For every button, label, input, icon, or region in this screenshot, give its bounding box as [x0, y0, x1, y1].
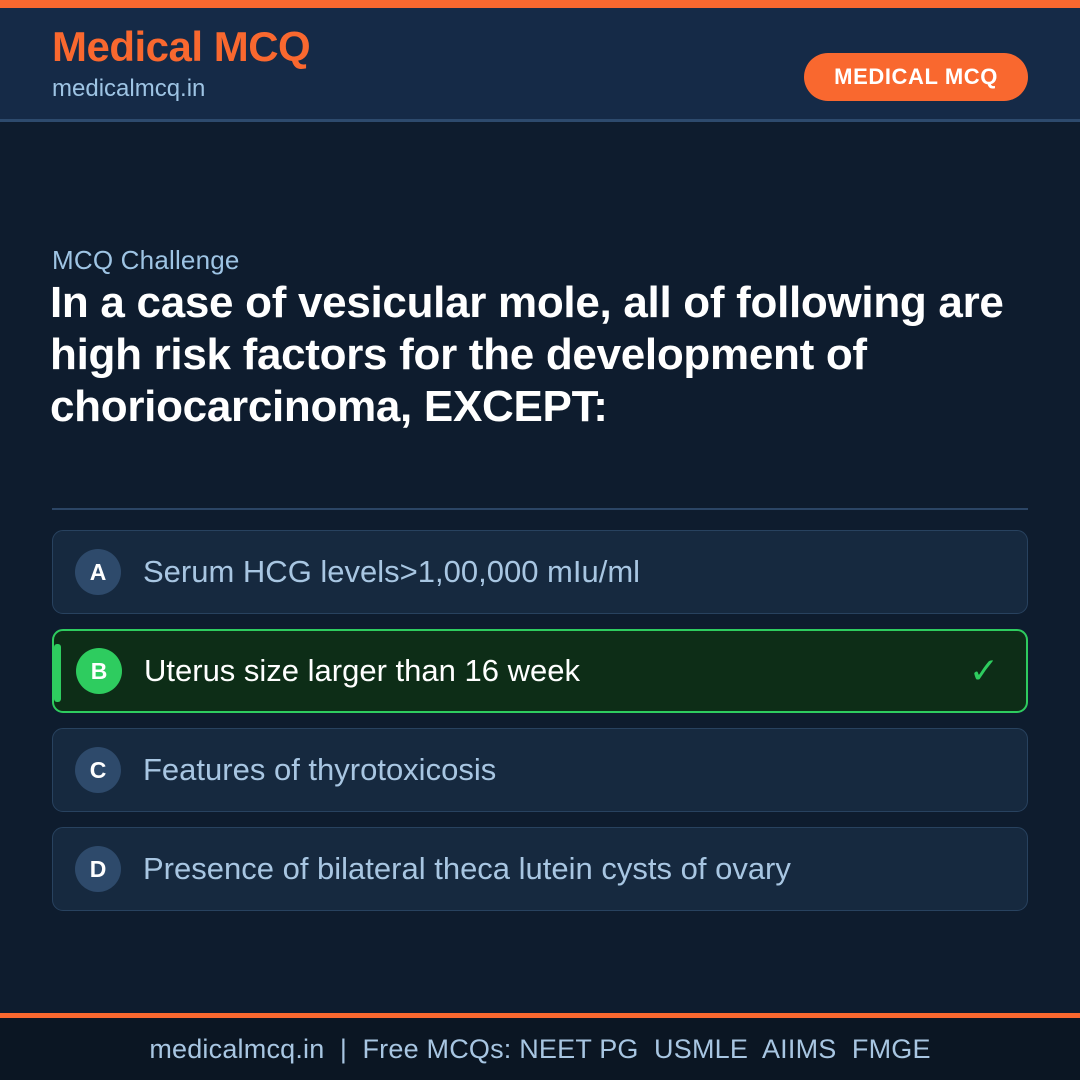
option-letter-badge: C: [75, 747, 121, 793]
footer-text: medicalmcq.in | Free MCQs: NEET PG USMLE…: [149, 1034, 930, 1065]
page-header: Medical MCQ medicalmcq.in MEDICAL MCQ: [0, 8, 1080, 122]
question-divider: [52, 508, 1028, 510]
brand-website: medicalmcq.in: [52, 74, 310, 104]
correct-accent-bar: [54, 644, 61, 702]
question-text: In a case of vesicular mole, all of foll…: [50, 277, 1030, 433]
option-row-d[interactable]: D Presence of bilateral theca lutein cys…: [52, 827, 1028, 911]
option-label: Features of thyrotoxicosis: [143, 751, 965, 789]
option-letter-badge: B: [76, 648, 122, 694]
option-letter-badge: A: [75, 549, 121, 595]
page-footer: medicalmcq.in | Free MCQs: NEET PG USMLE…: [0, 1018, 1080, 1080]
brand-block: Medical MCQ medicalmcq.in: [52, 22, 310, 104]
option-label: Presence of bilateral theca lutein cysts…: [143, 850, 965, 888]
main-content: MCQ Challenge In a case of vesicular mol…: [0, 125, 1080, 1013]
top-accent-bar: [0, 0, 1080, 8]
check-icon: ✓: [964, 653, 1004, 689]
options-list: A Serum HCG levels>1,00,000 mIu/ml ✓ B U…: [52, 530, 1028, 926]
option-letter-badge: D: [75, 846, 121, 892]
option-row-c[interactable]: C Features of thyrotoxicosis ✓: [52, 728, 1028, 812]
option-label: Uterus size larger than 16 week: [144, 652, 964, 690]
brand-badge: MEDICAL MCQ: [804, 53, 1028, 101]
option-row-b[interactable]: B Uterus size larger than 16 week ✓: [52, 629, 1028, 713]
page-kicker: MCQ Challenge: [52, 245, 240, 276]
option-label: Serum HCG levels>1,00,000 mIu/ml: [143, 553, 965, 591]
option-row-a[interactable]: A Serum HCG levels>1,00,000 mIu/ml ✓: [52, 530, 1028, 614]
brand-title: Medical MCQ: [52, 22, 310, 72]
